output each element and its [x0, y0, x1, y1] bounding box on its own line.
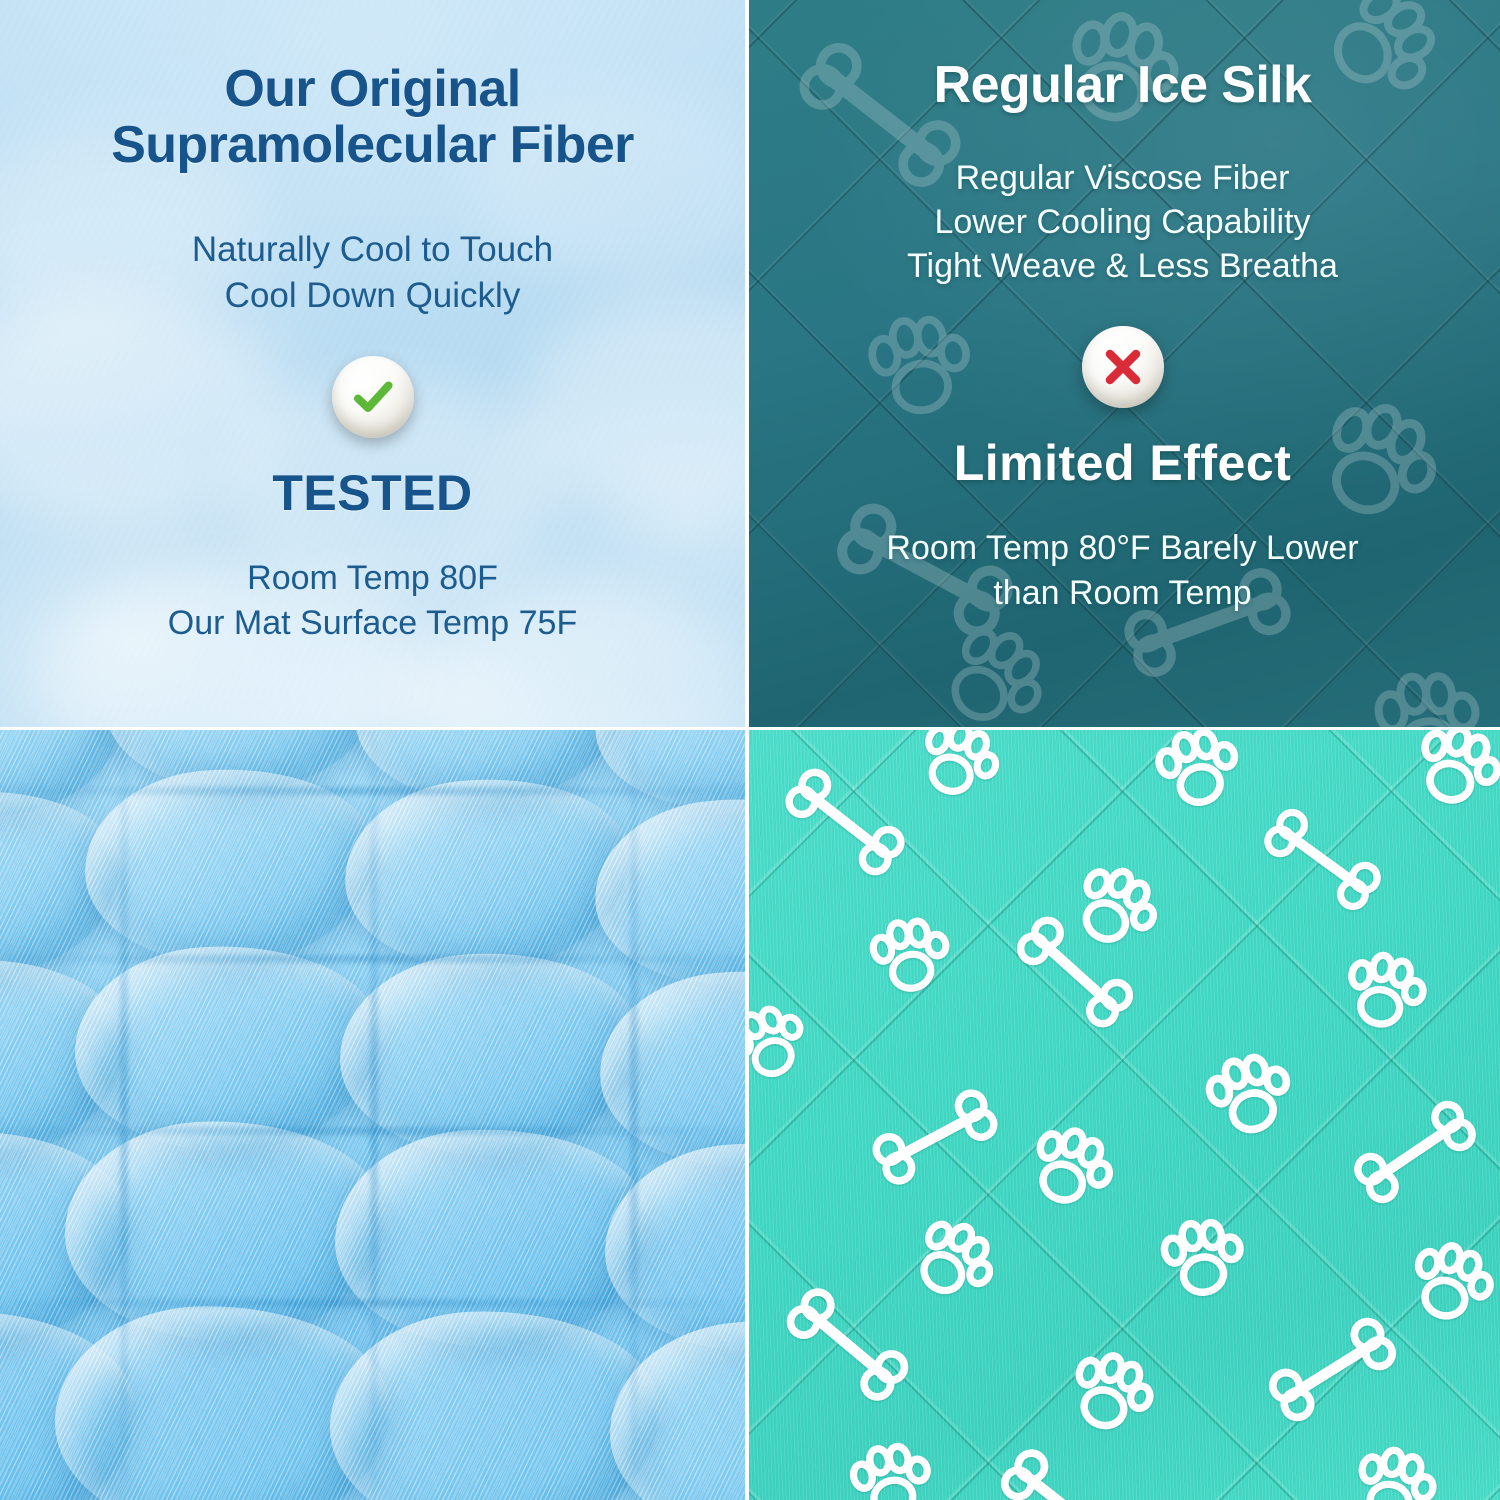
right-heading-line-1: Regular Ice Silk — [934, 58, 1312, 114]
paw-icon — [900, 727, 1020, 817]
right-info-panel: Regular Ice Silk Regular Viscose Fiber L… — [745, 0, 1500, 727]
cross-mark-icon — [1098, 342, 1148, 392]
check-mark-icon — [347, 371, 399, 423]
vertical-divider — [745, 0, 749, 1500]
right-fabric-photo — [745, 727, 1500, 1500]
left-badge-wrapper — [332, 356, 414, 438]
check-circle-icon — [332, 356, 414, 438]
right-feature-item: Tight Weave & Less Breatha — [907, 244, 1338, 288]
bone-icon — [985, 1427, 1140, 1500]
left-heading-line-1: Our Original — [111, 62, 634, 118]
left-fabric-photo — [0, 727, 745, 1500]
left-feature-list: Naturally Cool to Touch Cool Down Quickl… — [192, 227, 553, 318]
bone-icon — [860, 1062, 1010, 1212]
right-verdict-label: Limited Effect — [954, 434, 1292, 492]
right-temperature-readout: Room Temp 80°F Barely Lower than Room Te… — [886, 526, 1358, 616]
bone-icon — [770, 1267, 925, 1422]
paw-icon — [1325, 927, 1447, 1049]
paw-icon — [850, 892, 970, 1012]
left-temp-line: Our Mat Surface Temp 75F — [168, 601, 577, 646]
left-feature-item: Naturally Cool to Touch — [192, 227, 553, 273]
left-heading-line-2: Supramolecular Fiber — [111, 118, 634, 174]
left-temperature-readout: Room Temp 80F Our Mat Surface Temp 75F — [168, 556, 577, 646]
left-temp-line: Room Temp 80F — [168, 556, 577, 601]
right-temp-line: than Room Temp — [886, 571, 1358, 616]
paw-icon — [1395, 727, 1500, 827]
paw-icon — [1135, 727, 1260, 827]
paw-icon — [830, 1417, 952, 1500]
right-temp-line: Room Temp 80°F Barely Lower — [886, 526, 1358, 571]
paw-icon — [1010, 1102, 1135, 1227]
cross-circle-icon — [1082, 326, 1164, 408]
bone-icon — [1340, 1077, 1490, 1227]
horizontal-divider — [0, 727, 1500, 730]
paw-icon — [745, 982, 825, 1097]
diagonal-rib-texture-overlay — [0, 727, 745, 1500]
comparison-infographic: Our Original Supramolecular Fiber Natura… — [0, 0, 1500, 1500]
left-verdict-label: TESTED — [272, 464, 472, 522]
left-panel-heading: Our Original Supramolecular Fiber — [111, 62, 634, 173]
bone-icon — [1250, 787, 1395, 932]
paw-icon — [1140, 1192, 1265, 1317]
right-feature-item: Lower Cooling Capability — [907, 200, 1338, 244]
left-feature-item: Cool Down Quickly — [192, 273, 553, 319]
paw-icon — [1335, 1422, 1457, 1500]
right-feature-list: Regular Viscose Fiber Lower Cooling Capa… — [907, 156, 1338, 289]
paw-bone-print-pattern — [745, 727, 1500, 1500]
right-panel-heading: Regular Ice Silk — [934, 58, 1312, 114]
bone-icon — [770, 747, 920, 897]
right-feature-item: Regular Viscose Fiber — [907, 156, 1338, 200]
left-info-panel: Our Original Supramolecular Fiber Natura… — [0, 0, 745, 727]
paw-icon — [1185, 1027, 1313, 1155]
bone-icon — [1000, 897, 1150, 1047]
right-badge-wrapper — [1082, 326, 1164, 408]
